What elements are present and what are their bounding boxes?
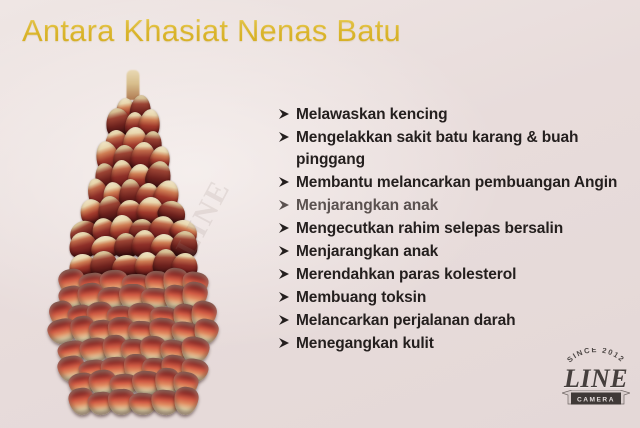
pinecone-photo xyxy=(28,70,238,410)
svg-text:SINCE 2012: SINCE 2012 xyxy=(565,348,627,364)
benefit-item-label: Membantu melancarkan pembuangan Angin xyxy=(296,172,630,194)
arrow-bullet-icon xyxy=(278,222,296,234)
poster-canvas: Antara Khasiat Nenas Batu LINE Melawaska… xyxy=(0,0,640,428)
pinecone-scale xyxy=(171,386,199,418)
benefit-item: Mengecutkan rahim selepas bersalin xyxy=(278,218,630,240)
benefit-item: Menjarangkan anak xyxy=(278,195,630,217)
arrow-bullet-icon xyxy=(278,176,296,188)
benefit-item-label: Mengecutkan rahim selepas bersalin xyxy=(296,218,630,240)
benefit-item: Menjarangkan anak xyxy=(278,241,630,263)
benefit-item: Mengelakkan sakit batu karang & buah pin… xyxy=(278,127,630,171)
benefit-item: Melawaskan kencing xyxy=(278,104,630,126)
pinecone-scale-row xyxy=(49,380,217,414)
benefit-item-label: Membuang toksin xyxy=(296,287,630,309)
arrow-bullet-icon xyxy=(278,199,296,211)
camera-ribbon: CAMERA xyxy=(562,390,630,408)
benefit-item: Melancarkan perjalanan darah xyxy=(278,310,630,332)
benefits-list: Melawaskan kencingMengelakkan sakit batu… xyxy=(278,104,630,356)
benefit-item: Membantu melancarkan pembuangan Angin xyxy=(278,172,630,194)
page-title: Antara Khasiat Nenas Batu xyxy=(22,14,582,48)
svg-text:CAMERA: CAMERA xyxy=(577,396,615,403)
benefit-item-label: Melawaskan kencing xyxy=(296,104,630,126)
arrow-bullet-icon xyxy=(278,131,296,143)
benefit-item: Membuang toksin xyxy=(278,287,630,309)
line-camera-watermark: SINCE 2012 LINE CAMERA xyxy=(556,348,636,410)
pinecone-body xyxy=(49,88,217,410)
arrow-bullet-icon xyxy=(278,268,296,280)
arrow-bullet-icon xyxy=(278,245,296,257)
benefit-item-label: Menjarangkan anak xyxy=(296,241,630,263)
arrow-bullet-icon xyxy=(278,314,296,326)
benefit-item-label: Menjarangkan anak xyxy=(296,195,630,217)
arrow-bullet-icon xyxy=(278,108,296,120)
pinecone-graphic xyxy=(49,70,217,410)
arrow-bullet-icon xyxy=(278,291,296,303)
benefit-item: Merendahkan paras kolesterol xyxy=(278,264,630,286)
benefit-item-label: Merendahkan paras kolesterol xyxy=(296,264,630,286)
arrow-bullet-icon xyxy=(278,337,296,349)
benefit-item-label: Mengelakkan sakit batu karang & buah pin… xyxy=(296,127,630,171)
benefit-item-label: Melancarkan perjalanan darah xyxy=(296,310,630,332)
